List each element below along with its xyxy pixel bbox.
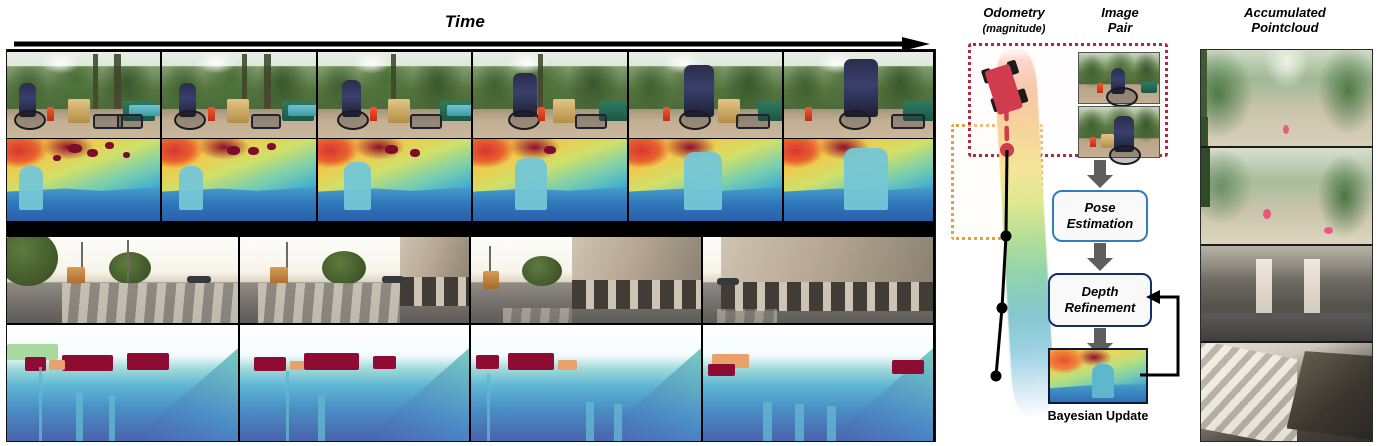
depth-far-blob xyxy=(62,355,113,371)
wooden-board xyxy=(388,99,410,123)
frame-forest-rgb-2 xyxy=(162,52,318,138)
predicted-path xyxy=(1006,88,1007,150)
trajectory-node xyxy=(991,371,1002,382)
depth-far-blob xyxy=(254,357,286,371)
motorbike-rider xyxy=(179,83,196,117)
predicted-node xyxy=(1000,82,1012,94)
depth-artifact xyxy=(385,145,398,154)
image-pair-title-line1: Image xyxy=(1101,5,1139,20)
rider-silhouette xyxy=(1092,364,1114,398)
depth-artifact xyxy=(53,155,61,161)
depth-far-blob xyxy=(892,360,924,374)
depth-far-blob xyxy=(25,357,46,371)
depth-mid-blob xyxy=(290,361,304,370)
frame-urban-rgb-4 xyxy=(703,237,933,323)
row-urban-depth xyxy=(7,325,935,441)
image-pair-heading: Image Pair xyxy=(1072,5,1168,36)
motorbike-rider xyxy=(1114,116,1134,152)
depth-mid-blob xyxy=(558,360,576,370)
pointcloud-stairs xyxy=(1201,343,1372,441)
time-axis-label: Time xyxy=(0,12,930,32)
roadside-kiosk xyxy=(483,271,499,289)
parked-bike xyxy=(891,114,925,129)
blue-tarp xyxy=(447,105,473,116)
depth-refinement-label-line1: Depth xyxy=(1082,284,1119,299)
sky-patch xyxy=(41,52,81,74)
tree-trunk xyxy=(93,54,98,109)
depth-far-blob xyxy=(304,353,359,370)
arrow-to-depth-refinement xyxy=(1087,243,1113,271)
depth-pole xyxy=(286,371,289,441)
frame-forest-depth-2 xyxy=(162,139,318,221)
tree-trunk xyxy=(1201,148,1210,207)
frame-forest-depth-6 xyxy=(784,139,933,221)
pink-marker xyxy=(1263,209,1271,219)
roadside-tree xyxy=(322,251,366,285)
frame-urban-depth-3 xyxy=(471,325,703,441)
depth-pole xyxy=(763,402,772,441)
frame-forest-rgb-3 xyxy=(318,52,473,138)
traffic-cone xyxy=(208,107,215,121)
wooden-board xyxy=(1101,134,1114,148)
traffic-cone xyxy=(663,107,670,121)
depth-artifact xyxy=(87,149,98,157)
depth-artifact xyxy=(227,146,240,155)
frame-urban-rgb-3 xyxy=(471,237,703,323)
parked-car xyxy=(717,278,739,285)
measured-path xyxy=(996,150,1007,376)
depth-pole xyxy=(586,402,594,441)
tree-trunk xyxy=(538,54,543,109)
depth-pole xyxy=(795,404,804,441)
depth-refinement-label-line2: Refinement xyxy=(1065,300,1136,315)
depth-artifact xyxy=(410,149,420,157)
depth-far-blob xyxy=(373,356,396,369)
depth-artifact xyxy=(544,146,556,154)
odometry-heading: Odometry (magnitude) xyxy=(952,5,1076,36)
shadowed-structure xyxy=(1287,351,1373,441)
pink-marker xyxy=(1283,125,1289,134)
pose-estimation-box[interactable]: Pose Estimation xyxy=(1052,190,1148,242)
motorbike-rider xyxy=(513,73,537,117)
parked-car xyxy=(187,276,211,283)
depth-artifact xyxy=(248,147,259,155)
frame-forest-rgb-5 xyxy=(629,52,784,138)
tree-trunk xyxy=(1201,50,1207,117)
depth-pole xyxy=(39,367,42,441)
depth-far-blob xyxy=(127,353,169,370)
pose-estimation-label-line2: Estimation xyxy=(1067,216,1133,231)
arrow-to-pose-estimation xyxy=(1087,160,1113,188)
building-colonnade xyxy=(721,282,933,311)
depth-far-blob xyxy=(476,355,499,369)
odometry-subtitle: (magnitude) xyxy=(983,23,1046,35)
crosswalk-stripes xyxy=(258,283,400,323)
figure-root: Time xyxy=(0,0,1379,446)
depth-pole xyxy=(487,374,490,441)
depth-refinement-box[interactable]: Depth Refinement xyxy=(1048,273,1152,327)
depth-artifact xyxy=(267,143,276,150)
roadside-tree xyxy=(7,237,58,286)
pointcloud-forest-path-1 xyxy=(1201,50,1372,148)
depth-artifact xyxy=(68,144,82,153)
row-forest-rgb xyxy=(7,52,935,138)
pointcloud-forest-path-2 xyxy=(1201,148,1372,246)
pointcloud-underpass xyxy=(1201,246,1372,344)
rider-silhouette xyxy=(19,166,43,210)
tree-trunk xyxy=(264,54,271,109)
lane-markings xyxy=(717,309,777,323)
traffic-cone xyxy=(370,107,377,121)
rider-silhouette xyxy=(684,152,722,210)
parked-bike xyxy=(251,114,281,129)
trajectory-node xyxy=(997,303,1008,314)
roadside-tree xyxy=(522,256,562,286)
frame-urban-depth-2 xyxy=(240,325,471,441)
depth-artifact xyxy=(105,142,114,149)
building-colonnade xyxy=(400,277,469,306)
bayesian-update-caption: Bayesian Update xyxy=(1028,409,1168,423)
roadside-tree xyxy=(109,252,151,284)
depth-ground-plane xyxy=(595,348,701,441)
frame-urban-rgb-2 xyxy=(240,237,471,323)
ground-depth xyxy=(318,183,471,221)
traffic-cone xyxy=(1090,137,1096,147)
accumulated-title-line1: Accumulated xyxy=(1244,5,1326,20)
traffic-cone xyxy=(805,107,812,121)
motorbike-rider xyxy=(844,59,878,117)
parked-car xyxy=(382,276,404,283)
image-pair-title-line2: Pair xyxy=(1108,20,1133,35)
wooden-board xyxy=(68,99,90,123)
sky-patch xyxy=(352,52,392,74)
frame-urban-rgb-1 xyxy=(7,237,240,323)
wooden-board xyxy=(227,99,249,123)
motorbike-rider xyxy=(342,80,361,117)
motorbike-rider xyxy=(19,83,36,117)
depth-artifact xyxy=(123,152,130,158)
traffic-cone xyxy=(47,107,54,121)
accumulated-title-line2: Pointcloud xyxy=(1251,20,1318,35)
green-bin xyxy=(1141,82,1157,93)
blue-tarp xyxy=(288,105,318,116)
parked-bike xyxy=(736,114,770,129)
frame-forest-depth-4 xyxy=(473,139,629,221)
stone-steps xyxy=(1201,343,1297,441)
depth-pole xyxy=(614,404,622,441)
rider-silhouette xyxy=(844,148,888,210)
pose-estimation-label-line1: Pose xyxy=(1084,200,1115,215)
traffic-cone xyxy=(538,107,545,121)
frame-urban-depth-1 xyxy=(7,325,240,441)
lamp-post xyxy=(127,240,129,281)
lane-markings xyxy=(503,308,572,323)
depth-far-blob xyxy=(508,353,554,370)
trajectory-node xyxy=(1001,231,1012,242)
garage-floor xyxy=(1201,313,1372,342)
sky-patch xyxy=(196,52,236,74)
wooden-board xyxy=(553,99,575,123)
parked-bike xyxy=(575,114,607,129)
bayesian-update-depth-image xyxy=(1048,348,1148,404)
frame-forest-depth-5 xyxy=(629,139,784,221)
traffic-cone xyxy=(1097,83,1103,93)
row-forest-depth xyxy=(7,139,935,221)
depth-pole xyxy=(109,395,115,441)
accumulated-pointcloud-heading: Accumulated Pointcloud xyxy=(1190,5,1379,36)
motorbike-rider xyxy=(684,65,714,117)
depth-pole xyxy=(827,406,836,441)
frame-forest-rgb-1 xyxy=(7,52,162,138)
motorbike-rider xyxy=(1111,68,1125,94)
frame-forest-depth-1 xyxy=(7,139,162,221)
image-pair-frame-1 xyxy=(1078,52,1160,104)
depth-mid-blob xyxy=(49,360,65,370)
depth-pole xyxy=(318,395,325,441)
frame-urban-depth-4 xyxy=(703,325,933,441)
row-urban-rgb xyxy=(7,237,935,323)
tree-trunk xyxy=(1201,117,1208,148)
image-pair-frame-2 xyxy=(1078,106,1160,158)
depth-pole xyxy=(76,392,83,441)
parked-bike xyxy=(410,114,442,129)
rider-silhouette xyxy=(344,162,371,210)
depth-far-blob xyxy=(708,364,736,376)
pink-marker xyxy=(1324,227,1333,234)
rider-silhouette xyxy=(179,166,203,210)
building-colonnade xyxy=(572,280,701,309)
sequence-grid xyxy=(6,49,936,442)
crosswalk-stripes xyxy=(62,283,238,323)
accumulated-pointcloud-column xyxy=(1200,49,1373,442)
odometry-title: Odometry xyxy=(983,5,1044,20)
frame-forest-depth-3 xyxy=(318,139,473,221)
ground-depth xyxy=(473,183,627,221)
tree-trunk xyxy=(114,54,121,109)
frame-forest-rgb-6 xyxy=(784,52,933,138)
frame-forest-rgb-4 xyxy=(473,52,629,138)
rider-silhouette xyxy=(515,158,547,210)
parked-bike xyxy=(117,114,143,129)
